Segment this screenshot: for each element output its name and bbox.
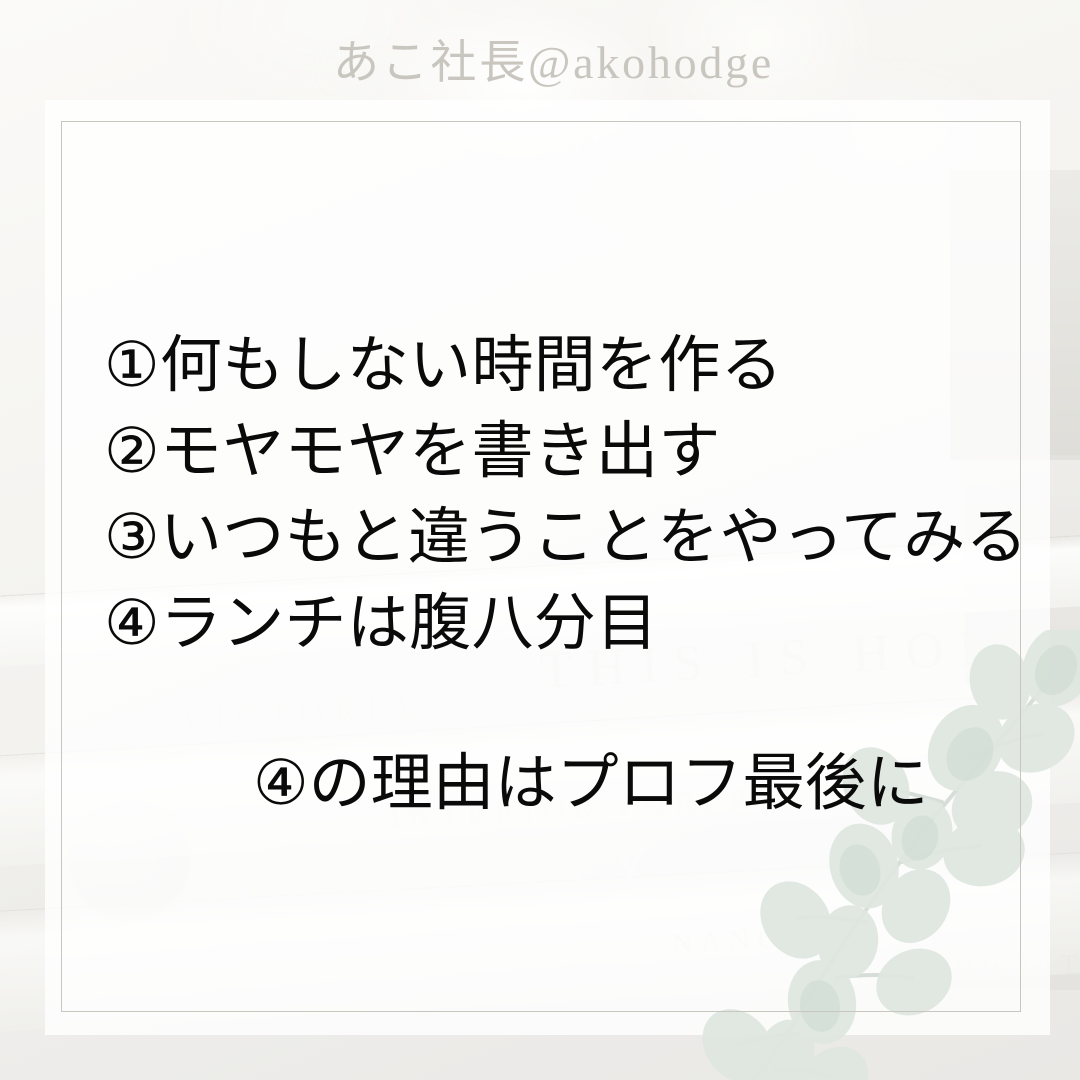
list-item: ③いつもと違うことをやってみる xyxy=(104,494,1024,580)
instagram-post-canvas: THIS IS HOME VICTORIA INTERIOR PORTRAIT … xyxy=(0,0,1080,1080)
list-item: ①何もしない時間を作る xyxy=(104,322,1024,408)
closing-note: ④の理由はプロフ最後に xyxy=(253,740,929,826)
list-item: ②モヤモヤを書き出す xyxy=(104,408,1024,494)
tips-list: ①何もしない時間を作る ②モヤモヤを書き出す ③いつもと違うことをやってみる ④… xyxy=(104,322,1024,666)
account-handle: あこ社長@akohodge xyxy=(333,26,774,92)
list-item: ④ランチは腹八分目 xyxy=(104,580,1024,666)
